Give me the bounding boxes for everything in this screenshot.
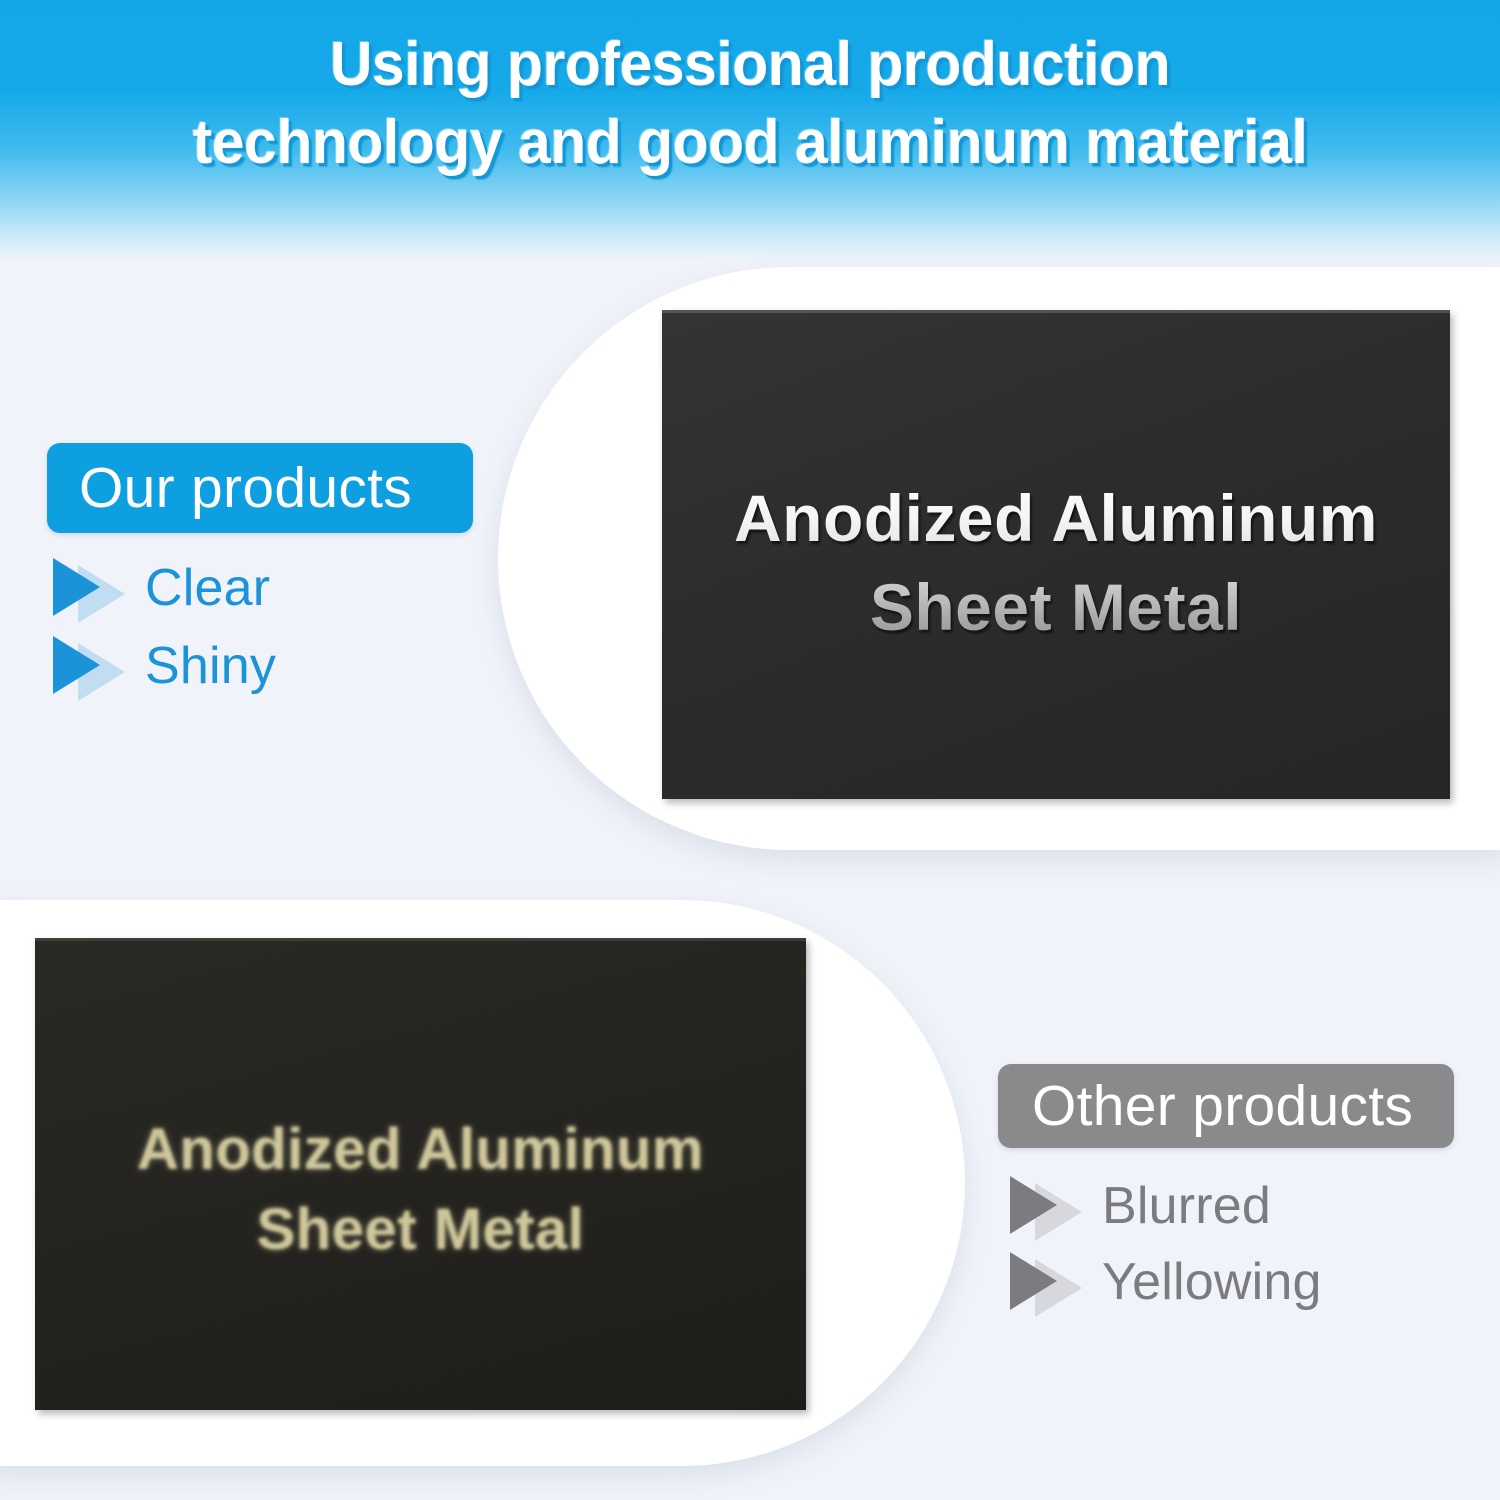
feature-label: Blurred [1102,1176,1271,1236]
other-products-badge: Other products [998,1064,1454,1148]
feature-label: Shiny [145,636,276,696]
other-products-feature-yellowing: Yellowing [1004,1252,1322,1312]
our-product-sheet-image: Anodized Aluminum Sheet Metal [662,310,1450,799]
other-product-sheet-caption: Anodized Aluminum Sheet Metal [137,1110,704,1270]
arrow-right-icon [47,558,133,618]
our-products-badge: Our products [47,443,473,533]
page-title: Using professional production technology… [38,26,1463,182]
our-products-feature-clear: Clear [47,558,270,618]
other-products-feature-blurred: Blurred [1004,1176,1271,1236]
feature-label: Clear [145,558,270,618]
arrow-right-icon [1004,1176,1090,1236]
arrow-right-icon [47,636,133,696]
our-products-feature-shiny: Shiny [47,636,276,696]
product-comparison-poster: Using professional production technology… [0,0,1500,1500]
our-product-sheet-caption: Anodized Aluminum Sheet Metal [734,474,1378,652]
header-banner: Using professional production technology… [0,0,1500,268]
other-product-sheet-image: Anodized Aluminum Sheet Metal [35,938,806,1410]
arrow-right-icon [1004,1252,1090,1312]
feature-label: Yellowing [1102,1252,1322,1312]
